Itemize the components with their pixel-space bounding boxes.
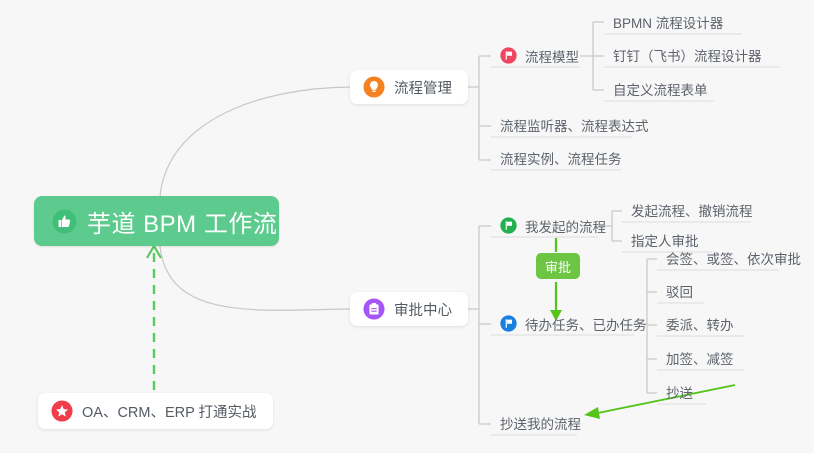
star-icon (51, 400, 73, 422)
leaf-label: 抄送 (666, 382, 693, 402)
leaf-cc[interactable]: 抄送 (657, 378, 702, 405)
leaf-process-model[interactable]: 流程模型 (491, 42, 588, 69)
leaf-label: 钉钉（飞书）流程设计器 (613, 45, 762, 65)
leaf-label: 待办任务、已办任务 (525, 314, 647, 334)
bottom-annotation-label: OA、CRM、ERP 打通实战 (82, 401, 257, 422)
leaf-todo-done-tasks[interactable]: 待办任务、已办任务 (491, 310, 656, 337)
leaf-label: BPMN 流程设计器 (613, 12, 723, 32)
leaf-label: 发起流程、撤销流程 (631, 200, 753, 220)
leaf-custom-form[interactable]: 自定义流程表单 (604, 75, 717, 102)
root-node[interactable]: 芋道 BPM 工作流 (34, 196, 279, 246)
leaf-start-cancel-process[interactable]: 发起流程、撤销流程 (622, 196, 762, 223)
link-root-to-process-mgmt (160, 87, 350, 196)
branch-label: 审批中心 (394, 299, 452, 320)
leaf-listener-expression[interactable]: 流程监听器、流程表达式 (491, 111, 658, 138)
leaf-instance-task[interactable]: 流程实例、流程任务 (491, 144, 631, 171)
leaf-label: 我发起的流程 (525, 216, 606, 236)
lightbulb-icon (363, 76, 385, 98)
branch-label: 流程管理 (394, 77, 452, 98)
clipboard-icon (363, 298, 385, 320)
leaf-countersign-modes[interactable]: 会签、或签、依次审批 (657, 244, 810, 271)
leaf-cc-my-process[interactable]: 抄送我的流程 (491, 409, 590, 436)
leaf-add-remove-sign[interactable]: 加签、减签 (657, 344, 743, 371)
branch-approval-center[interactable]: 审批中心 (350, 292, 468, 326)
flag-icon (500, 47, 517, 64)
leaf-label: 流程监听器、流程表达式 (500, 115, 649, 135)
flag-icon (500, 315, 517, 332)
thumbs-up-icon (52, 209, 77, 234)
approval-annotation-chip: 审批 (536, 253, 580, 279)
leaf-label: 自定义流程表单 (613, 79, 708, 99)
branch-process-management[interactable]: 流程管理 (350, 70, 468, 104)
leaf-label: 流程实例、流程任务 (500, 148, 622, 168)
leaf-dingtalk-designer[interactable]: 钉钉（飞书）流程设计器 (604, 41, 771, 68)
leaf-label: 驳回 (666, 281, 693, 301)
leaf-reject[interactable]: 驳回 (657, 277, 702, 304)
flag-icon (500, 217, 517, 234)
root-label: 芋道 BPM 工作流 (87, 204, 277, 239)
leaf-label: 会签、或签、依次审批 (666, 248, 801, 268)
leaf-my-started-process[interactable]: 我发起的流程 (491, 212, 615, 239)
leaf-label: 流程模型 (525, 46, 579, 66)
leaf-bpmn-designer[interactable]: BPMN 流程设计器 (604, 8, 732, 35)
link-root-to-approval-center (160, 246, 350, 310)
approval-chip-label: 审批 (545, 257, 571, 276)
bottom-annotation-card[interactable]: OA、CRM、ERP 打通实战 (38, 393, 273, 429)
leaf-label: 加签、减签 (666, 348, 734, 368)
leaf-delegate-transfer[interactable]: 委派、转办 (657, 310, 743, 337)
leaf-label: 委派、转办 (666, 314, 734, 334)
mindmap-canvas: 芋道 BPM 工作流 流程管理 流程模型 BPMN 流程设计器 钉钉（飞书）流程… (0, 0, 814, 453)
leaf-label: 抄送我的流程 (500, 413, 581, 433)
